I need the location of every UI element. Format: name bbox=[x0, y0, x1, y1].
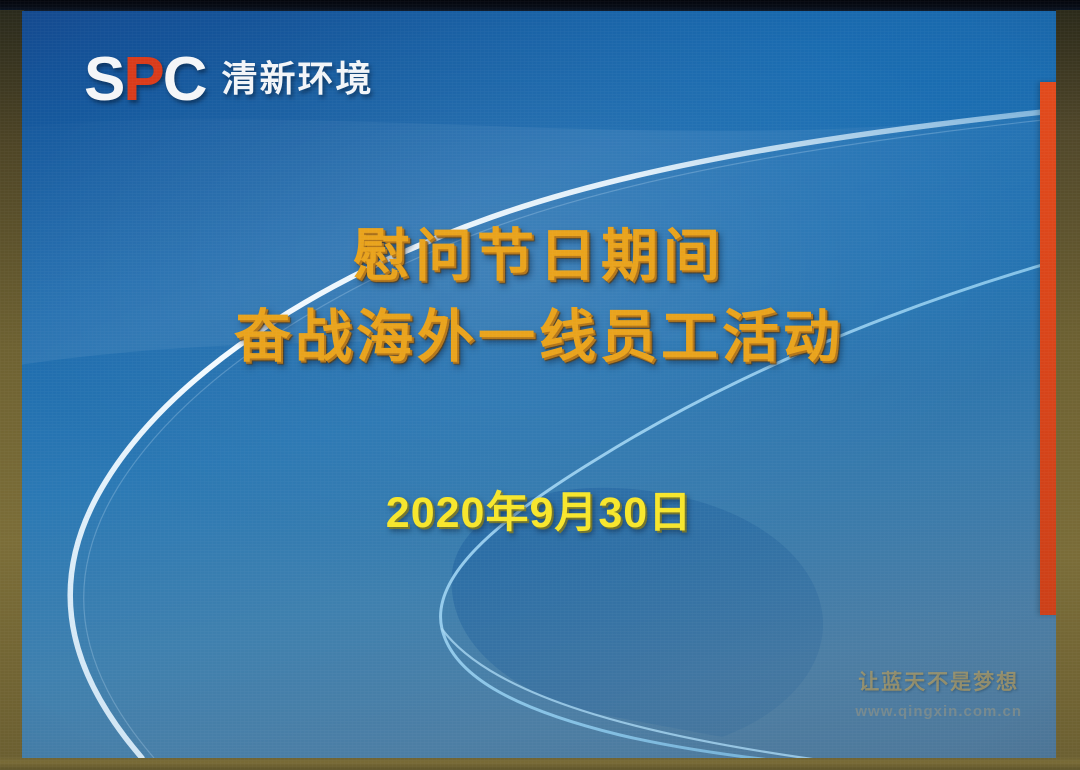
slide-title-line-1: 慰问节日期间 bbox=[22, 216, 1056, 297]
slide-footer: 让蓝天不是梦想 www.qingxin.com.cn bbox=[855, 669, 1022, 722]
footer-slogan: 让蓝天不是梦想 bbox=[855, 669, 1022, 697]
footer-url: www.qingxin.com.cn bbox=[855, 702, 1022, 722]
brand-logo-name-cn: 清新环境 bbox=[222, 61, 374, 100]
wall-strip-right bbox=[1056, 10, 1080, 770]
brand-logo-mark: SPC bbox=[84, 49, 206, 111]
projected-slide-photo: SPC 清新环境 慰问节日期间 奋战海外一线员工活动 2020年9月30日 让蓝… bbox=[0, 0, 1080, 770]
presentation-slide: SPC 清新环境 慰问节日期间 奋战海外一线员工活动 2020年9月30日 让蓝… bbox=[22, 11, 1056, 758]
wall-strip-left bbox=[0, 10, 24, 770]
slide-title-block: 慰问节日期间 奋战海外一线员工活动 bbox=[22, 216, 1056, 378]
logo-letter-s: S bbox=[84, 45, 123, 114]
slide-title-line-2: 奋战海外一线员工活动 bbox=[22, 297, 1056, 378]
brand-logo: SPC 清新环境 bbox=[84, 49, 374, 111]
slide-date: 2020年9月30日 bbox=[22, 478, 1056, 540]
logo-letter-c: C bbox=[163, 45, 206, 114]
logo-letter-p: P bbox=[123, 45, 162, 114]
wall-strip-bottom bbox=[0, 756, 1080, 770]
projector-glow-overlay bbox=[22, 11, 1056, 758]
decorative-swoosh-graphic bbox=[22, 11, 1056, 758]
